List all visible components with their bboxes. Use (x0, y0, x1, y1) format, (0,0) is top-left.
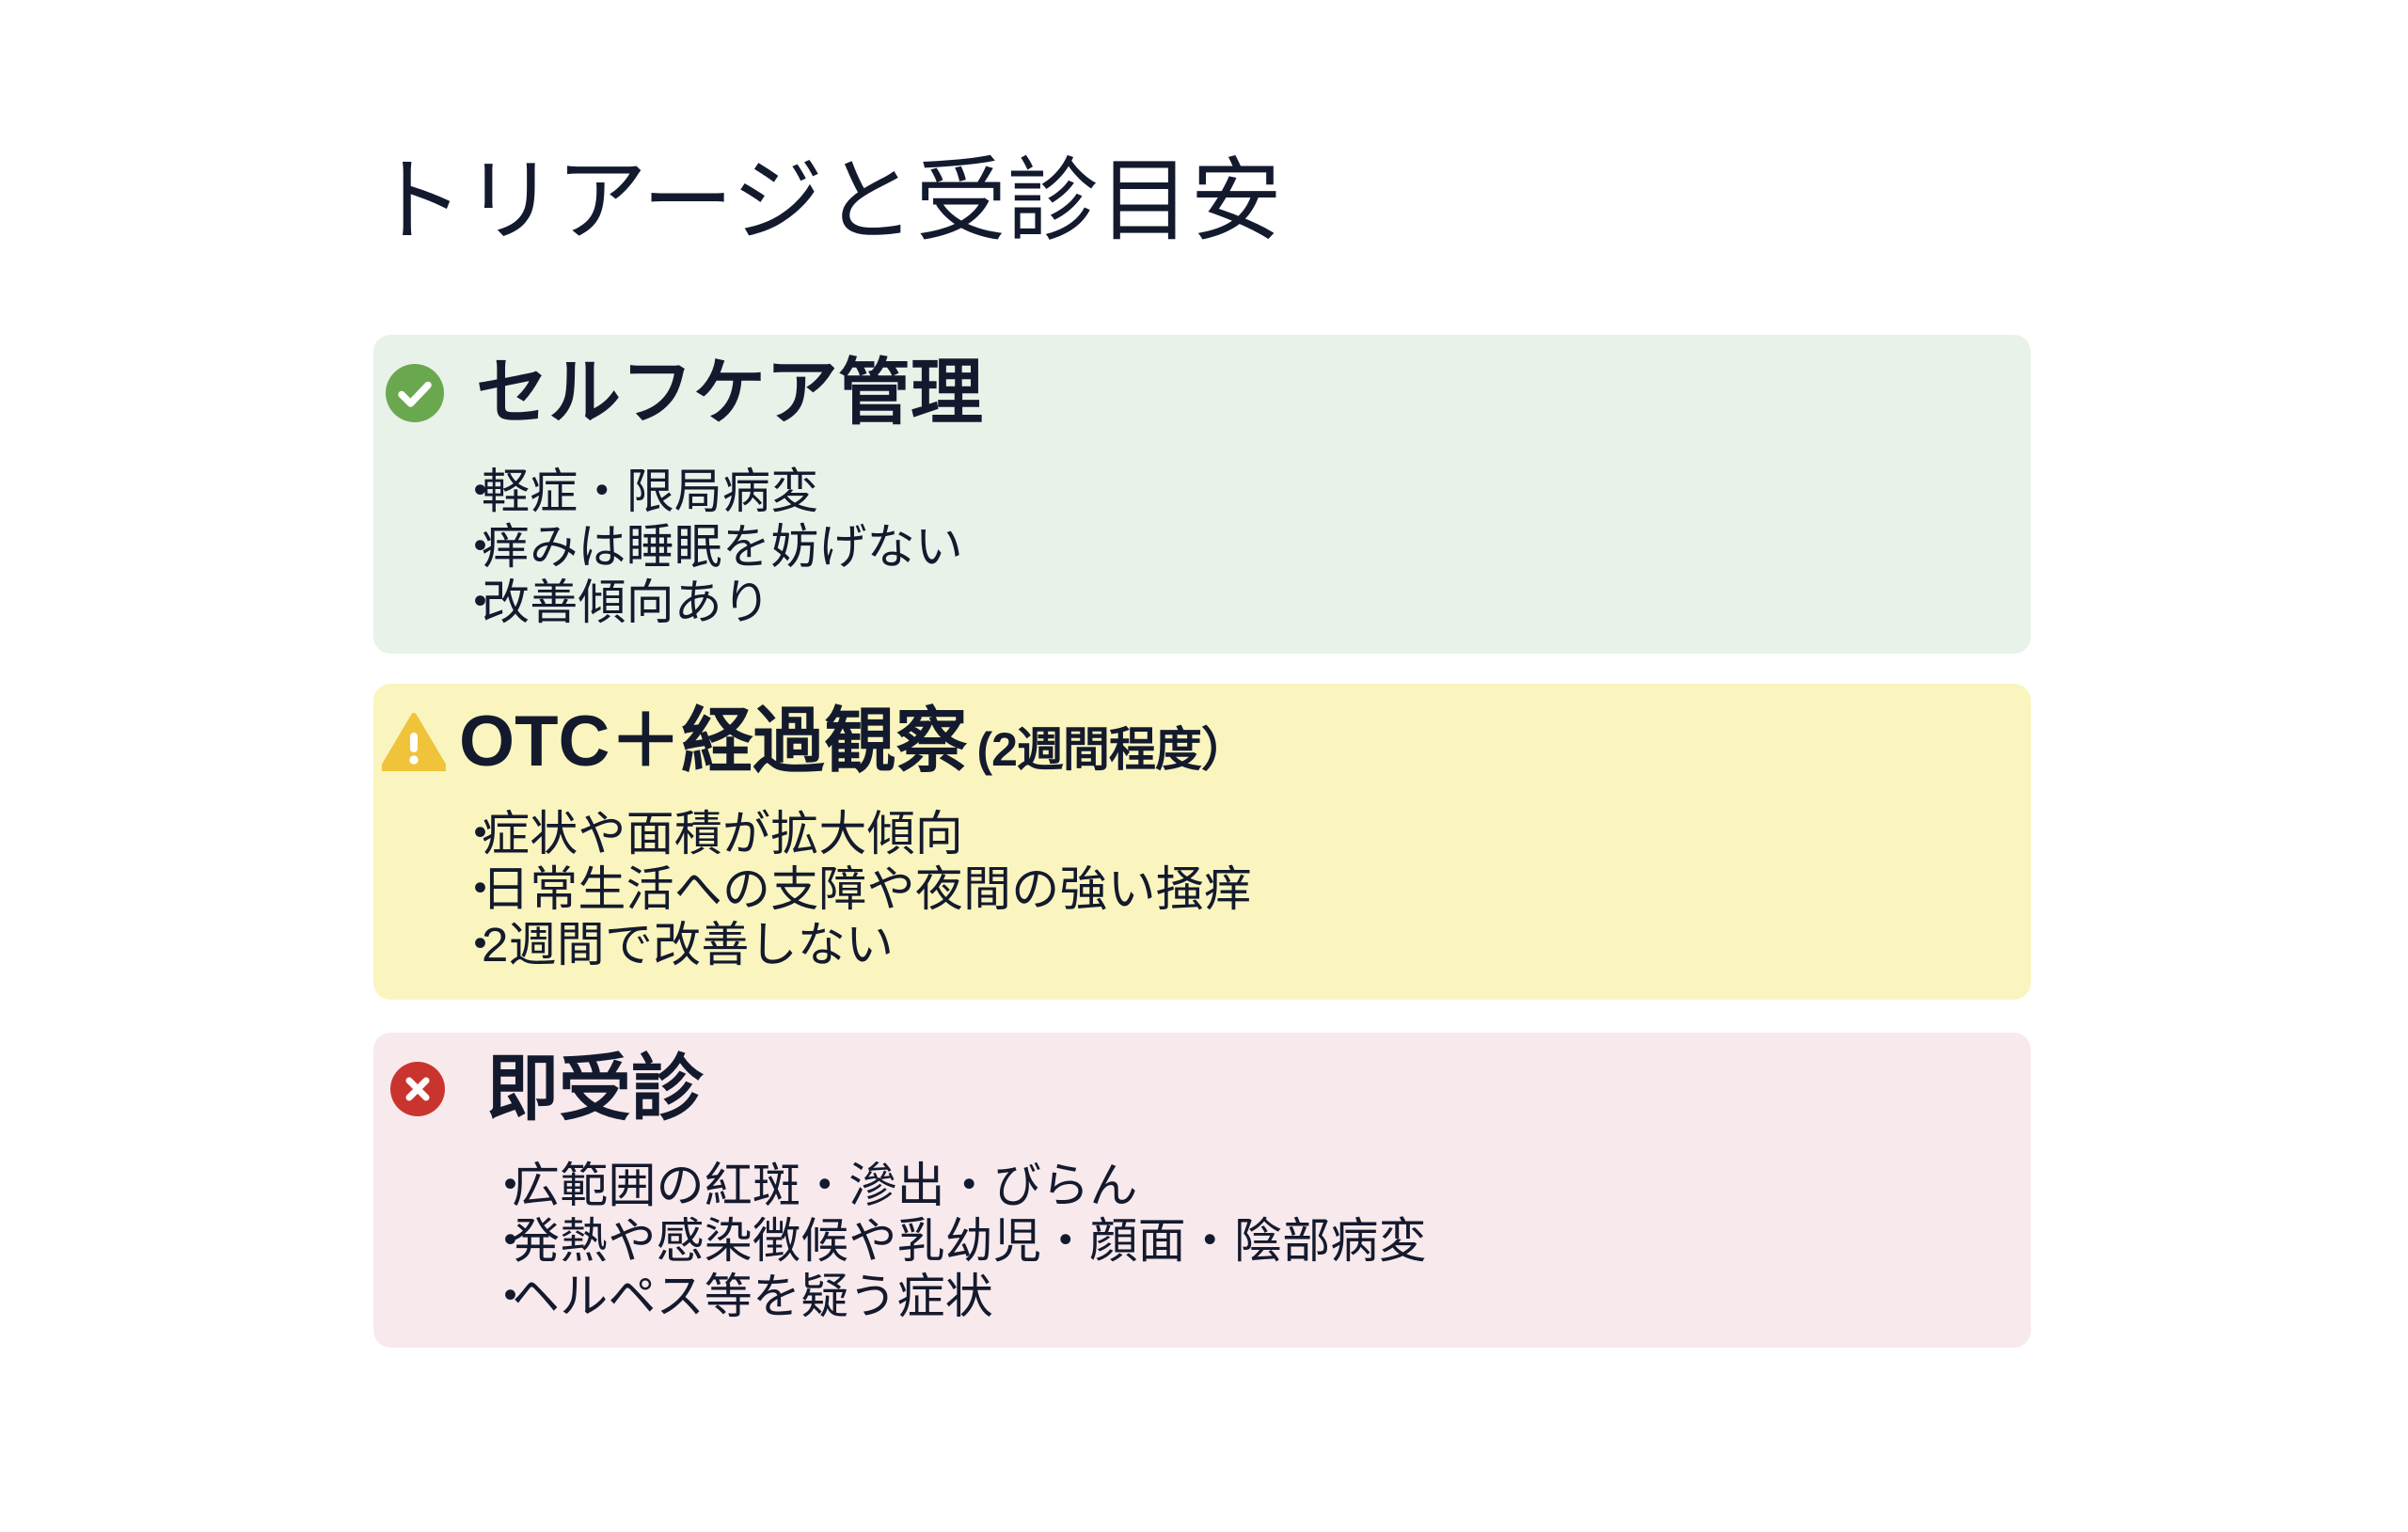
list-item-label: 2週間で改善しない (482, 918, 894, 971)
bullet-list: ・症状や面積が拡大傾向 ・日常生活への支障や夜間の強い掻痒 ・2週間で改善しない (456, 806, 1252, 972)
list-item: ・ヘルペス等を疑う症状 (486, 1269, 1427, 1324)
bullet-list: ・広範囲の紅斑・滲出・びらん ・発熱や感染徴候や乳幼児・顔面・陰部病変 ・ヘルペ… (486, 1158, 1427, 1324)
cross-circle-icon (390, 1062, 445, 1116)
card-header: セルフケア管理 (386, 355, 983, 432)
list-item: ・発熱や感染徴候や乳幼児・顔面・陰部病変 (486, 1213, 1427, 1269)
list-item-label: ヘルペス等を疑う症状 (512, 1270, 993, 1323)
card-title: 即受診 (486, 1051, 704, 1128)
triage-card-immediate-visit: 即受診 ・広範囲の紅斑・滲出・びらん ・発熱や感染徴候や乳幼児・顔面・陰部病変 … (373, 1033, 2031, 1348)
list-item-label: 日常生活への支障や夜間の強い掻痒 (482, 862, 1252, 916)
list-item: ・日常生活への支障や夜間の強い掻痒 (456, 861, 1252, 917)
bullet-marker: ・ (456, 575, 482, 630)
triage-card-self-care: セルフケア管理 ・軽症・限局病変 ・痒みは睡眠を妨げない ・改善傾向あり (373, 335, 2031, 654)
card-header: OTC＋経過観察(2週間程度） (382, 704, 1247, 780)
bullet-marker: ・ (486, 1158, 512, 1213)
list-item: ・痒みは睡眠を妨げない (456, 519, 963, 575)
bullet-marker: ・ (456, 917, 482, 972)
bullet-list: ・軽症・限局病変 ・痒みは睡眠を妨げない ・改善傾向あり (456, 464, 963, 630)
list-item-label: 広範囲の紅斑・滲出・びらん (512, 1159, 1138, 1212)
card-title-main: OTC＋経過観察 (459, 702, 967, 782)
card-title: セルフケア管理 (476, 355, 983, 432)
card-title-note: (2週間程度） (976, 723, 1246, 776)
list-item: ・症状や面積が拡大傾向 (456, 806, 1252, 861)
list-item: ・軽症・限局病変 (456, 464, 963, 519)
bullet-marker: ・ (486, 1269, 512, 1324)
bullet-marker: ・ (486, 1213, 512, 1269)
list-item: ・広範囲の紅斑・滲出・びらん (486, 1158, 1427, 1213)
triage-card-otc-observation: OTC＋経過観察(2週間程度） ・症状や面積が拡大傾向 ・日常生活への支障や夜間… (373, 684, 2031, 1000)
check-circle-icon (386, 364, 444, 422)
bullet-marker: ・ (456, 519, 482, 575)
bullet-marker: ・ (456, 806, 482, 861)
bullet-marker: ・ (456, 464, 482, 519)
list-item-label: 発熱や感染徴候や乳幼児・顔面・陰部病変 (512, 1214, 1427, 1268)
slide-canvas: トリアージと受診目安 セルフケア管理 ・軽症・限局病変 ・痒みは睡眠を妨げない … (0, 0, 2408, 1532)
bullet-marker: ・ (456, 861, 482, 917)
list-item-label: 痒みは睡眠を妨げない (482, 520, 963, 574)
warning-triangle-icon (382, 713, 446, 771)
card-title: OTC＋経過観察(2週間程度） (459, 704, 1247, 780)
list-item-label: 症状や面積が拡大傾向 (482, 807, 963, 861)
card-header: 即受診 (390, 1051, 704, 1128)
list-item-label: 軽症・限局病変 (482, 465, 818, 518)
list-item-label: 改善傾向あり (482, 576, 770, 629)
list-item: ・2週間で改善しない (456, 917, 1252, 972)
page-title: トリアージと受診目安 (372, 148, 1282, 255)
list-item: ・改善傾向あり (456, 575, 963, 630)
